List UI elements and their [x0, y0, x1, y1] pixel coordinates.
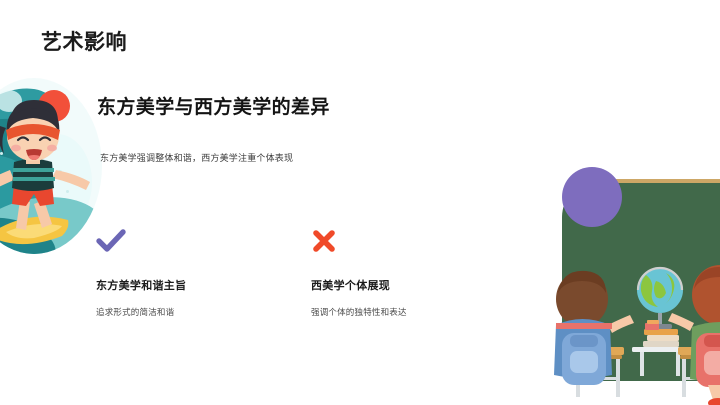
point-heading-right: 西美学个体展现	[311, 277, 526, 293]
backpack-red	[696, 333, 720, 387]
classroom-scene	[548, 165, 720, 405]
main-subtitle: 东方美学强调整体和谐，西方美学注重个体表现	[100, 151, 293, 164]
cross-icon	[311, 228, 526, 258]
point-body-left: 追求形式的简洁和谐	[96, 306, 311, 318]
check-icon	[96, 228, 311, 258]
page-title: 艺术影响	[41, 26, 127, 56]
student-boy	[554, 271, 634, 385]
backpack-blue	[562, 333, 606, 385]
boy-figure	[0, 78, 102, 254]
main-heading: 东方美学与西方美学的差异	[97, 92, 330, 119]
point-body-right: 强调个体的独特性和表达	[311, 306, 526, 318]
classroom-illustration	[548, 165, 720, 405]
head	[0, 100, 60, 161]
point-item-right: 西美学个体展现 强调个体的独特性和表达	[311, 228, 526, 318]
surfing-boy-illustration	[0, 78, 102, 254]
slide-canvas: 艺术影响 东方美学与西方美学的差异 东方美学强调整体和谐，西方美学注重个体表现 …	[0, 0, 720, 405]
point-item-left: 东方美学和谐主旨 追求形式的简洁和谐	[96, 228, 311, 318]
point-heading-left: 东方美学和谐主旨	[96, 277, 311, 293]
surfboard-icon	[0, 217, 68, 245]
